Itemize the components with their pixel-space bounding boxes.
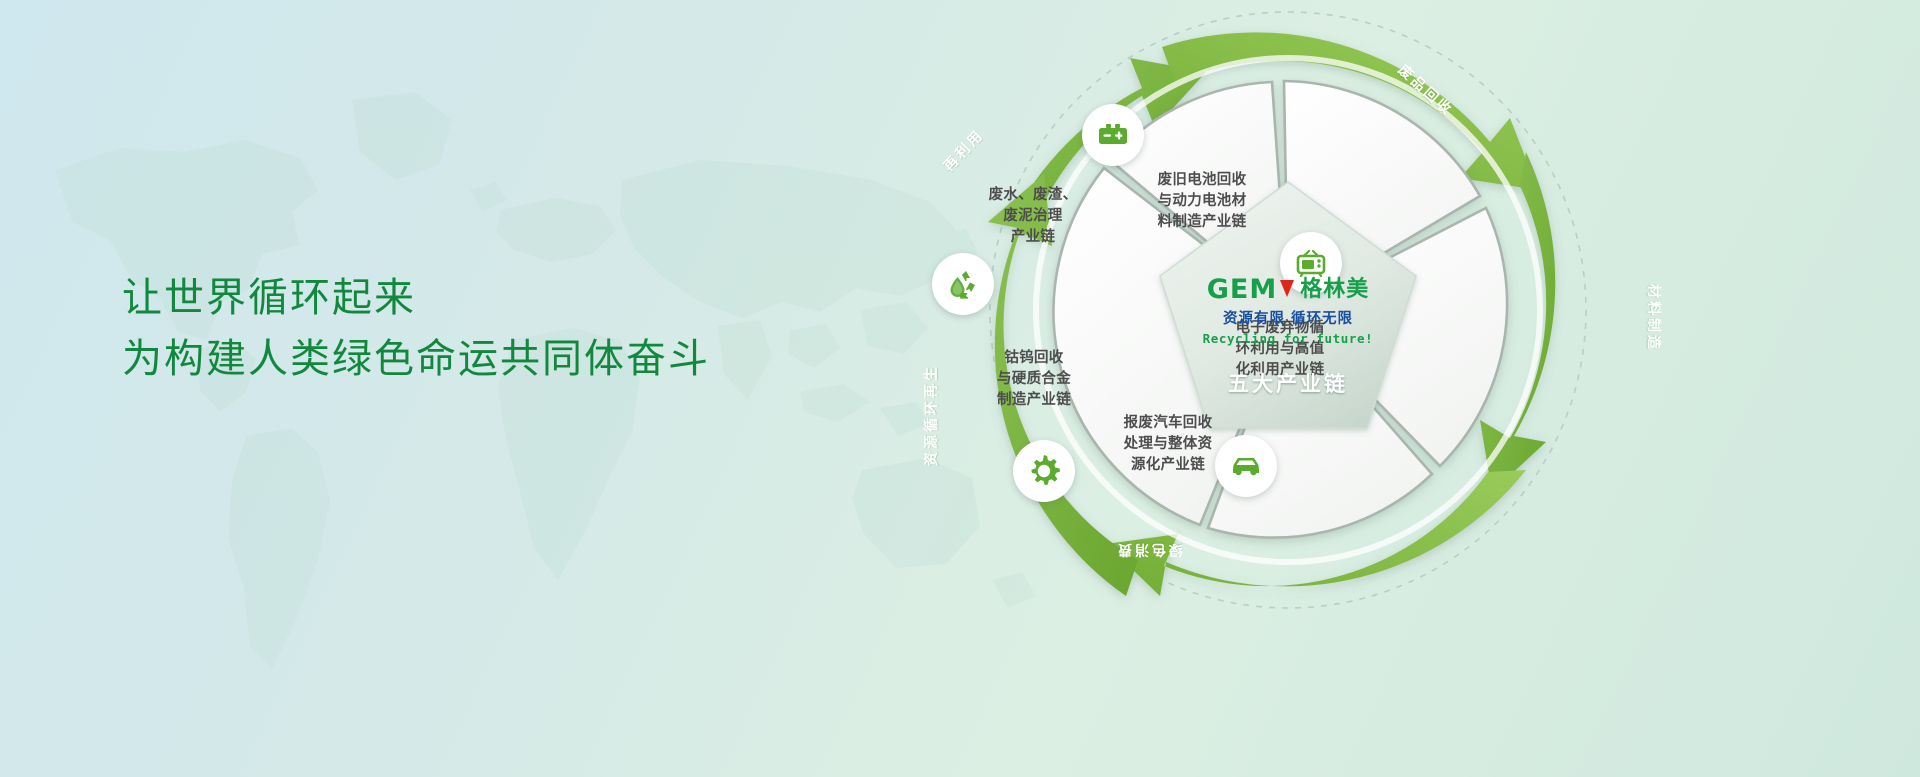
ring-label-green-consumption: 绿色消费 <box>1115 540 1183 560</box>
segment-label-line: 与硬质合金 <box>969 369 1099 390</box>
segment-label-line: 处理与整体资 <box>1103 434 1233 455</box>
segment-label-line: 废泥治理 <box>968 206 1098 227</box>
water-recycle-icon <box>945 266 981 302</box>
segment-label-cobalt-tungsten: 钴钨回收 与硬质合金 制造产业链 <box>969 348 1099 411</box>
five-industry-chain-diagram: 再利用 废品回收 材料制造 绿色消费 资源循环再生 <box>820 0 1760 777</box>
ring-label-resource-regeneration: 资源循环再生 <box>921 364 941 466</box>
segment-label-line: 料制造产业链 <box>1137 212 1267 233</box>
logo-chinese-name: 格林美 <box>1300 279 1369 301</box>
segment-label-line: 废旧电池回收 <box>1137 170 1267 191</box>
segment-label-line: 制造产业链 <box>969 390 1099 411</box>
center-brand-block: GEM 格林美 资源有限 循环无限 Recycling for future! … <box>1173 276 1403 398</box>
segment-label-line: 废水、废渣、 <box>968 185 1098 206</box>
logo-lockup: GEM 格林美 <box>1173 276 1403 303</box>
badge-water-recycle[interactable] <box>932 253 994 315</box>
segment-label-waste-water: 废水、废渣、 废泥治理 产业链 <box>968 185 1098 248</box>
badge-battery[interactable] <box>1082 104 1144 166</box>
ring-label-material-manufacturing: 材料制造 <box>1644 284 1664 352</box>
banner-root: 让世界循环起来 为构建人类绿色命运共同体奋斗 <box>0 0 1920 777</box>
segment-label-line: 与动力电池材 <box>1137 191 1267 212</box>
segment-label-line: 源化产业链 <box>1103 455 1233 476</box>
logo-wordmark: GEM <box>1207 276 1277 303</box>
segment-label-line: 钴钨回收 <box>969 348 1099 369</box>
logo-slogan-en: Recycling for future! <box>1173 331 1403 346</box>
segment-label-line: 产业链 <box>968 227 1098 248</box>
gear-icon <box>1026 453 1062 489</box>
headline: 让世界循环起来 为构建人类绿色命运共同体奋斗 <box>122 268 882 390</box>
car-icon <box>1229 449 1263 483</box>
center-title: 五大产业链 <box>1173 368 1403 398</box>
battery-icon <box>1096 118 1130 152</box>
segment-label-vehicle: 报废汽车回收 处理与整体资 源化产业链 <box>1103 413 1233 476</box>
segment-label-battery: 废旧电池回收 与动力电池材 料制造产业链 <box>1137 170 1267 233</box>
television-icon <box>1294 246 1328 280</box>
segment-label-line: 报废汽车回收 <box>1103 413 1233 434</box>
logo-slogan-cn: 资源有限 循环无限 <box>1173 307 1403 328</box>
headline-line-2: 为构建人类绿色命运共同体奋斗 <box>122 329 882 390</box>
badge-gear[interactable] <box>1013 440 1075 502</box>
headline-line-1: 让世界循环起来 <box>122 268 882 329</box>
gem-mark-icon <box>1280 280 1294 300</box>
